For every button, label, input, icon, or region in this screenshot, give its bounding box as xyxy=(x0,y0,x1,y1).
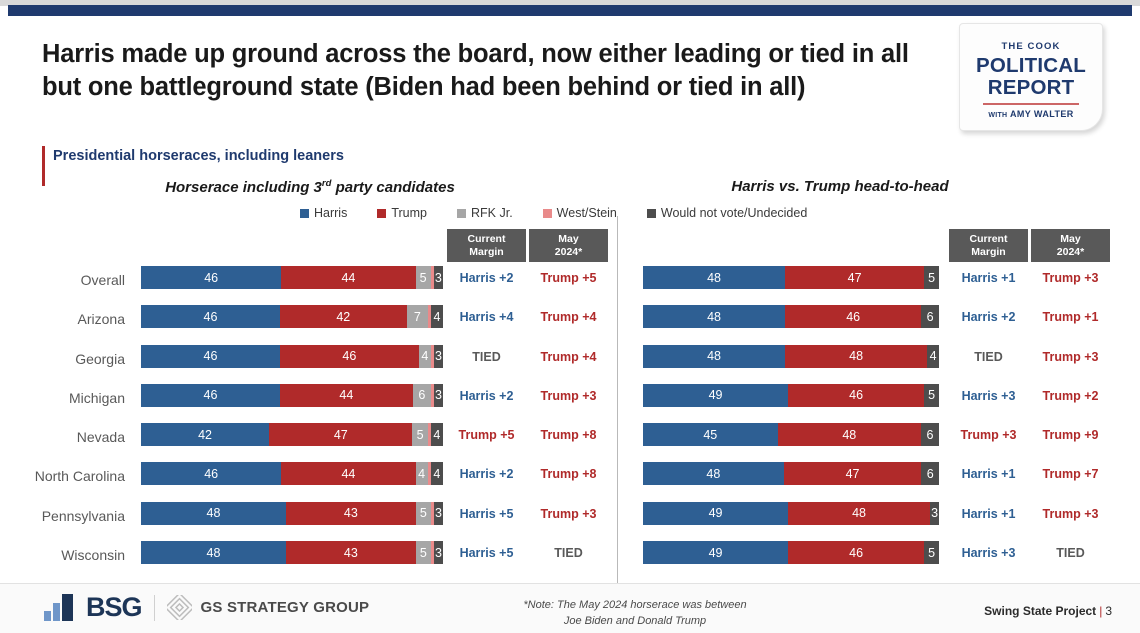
left-panel-title-main: Horserace including 3 xyxy=(165,179,322,196)
bar-segment-und: 3 xyxy=(930,502,939,525)
bar-segment-harris: 46 xyxy=(141,305,280,328)
legend-item-west-stein: West/Stein xyxy=(543,206,617,220)
legend-label: Harris xyxy=(314,206,347,220)
left-current-margin-value: Harris +2 xyxy=(447,271,526,285)
right-current-margin-value: Harris +1 xyxy=(949,507,1028,521)
right-current-margin-value: TIED xyxy=(949,350,1028,364)
right-stacked-bar: 45486 xyxy=(643,423,939,446)
left-current-margin-value: Trump +5 xyxy=(447,428,526,442)
left-panel-title-superscript: rd xyxy=(322,178,332,189)
right-stacked-bar: 48476 xyxy=(643,462,939,485)
state-label: North Carolina xyxy=(0,468,125,484)
left-stacked-bar: 464444 xyxy=(141,462,443,485)
bar-segment-harris: 42 xyxy=(141,423,269,446)
bar-segment-und: 5 xyxy=(924,541,939,564)
state-label: Michigan xyxy=(0,390,125,406)
bar-segment-und: 5 xyxy=(924,384,939,407)
left-current-margin-value: Harris +2 xyxy=(447,467,526,481)
right-stacked-bar: 49465 xyxy=(643,541,939,564)
bar-segment-rfk: 5 xyxy=(416,266,431,289)
table-row: Pennsylvania484353Harris +5Trump +349483… xyxy=(0,500,1140,539)
bar-segment-harris: 48 xyxy=(141,541,286,564)
right-stacked-bar: 48484 xyxy=(643,345,939,368)
bar-segment-trump: 42 xyxy=(280,305,407,328)
right-may-2024-value: Trump +1 xyxy=(1031,310,1110,324)
right-stacked-bar: 49483 xyxy=(643,502,939,525)
right-current-margin-value: Harris +1 xyxy=(949,271,1028,285)
logo-line-the-cook: THE COOK xyxy=(960,41,1102,52)
right-current-margin-value: Harris +3 xyxy=(949,546,1028,560)
legend-swatch-icon xyxy=(300,209,309,218)
bar-segment-und: 6 xyxy=(921,305,939,328)
left-may-2024-value: Trump +3 xyxy=(529,389,608,403)
right-current-margin-value: Trump +3 xyxy=(949,428,1028,442)
right-stacked-bar: 48475 xyxy=(643,266,939,289)
bar-segment-und: 3 xyxy=(434,266,443,289)
bar-segment-harris: 46 xyxy=(141,345,280,368)
bar-segment-harris: 48 xyxy=(643,345,785,368)
legend-label: Trump xyxy=(391,206,427,220)
bar-segment-trump: 47 xyxy=(784,462,922,485)
right-current-margin-value: Harris +1 xyxy=(949,467,1028,481)
bar-segment-harris: 49 xyxy=(643,502,788,525)
bar-segment-harris: 48 xyxy=(141,502,286,525)
footnote-line-2: Joe Biden and Donald Trump xyxy=(564,615,706,627)
left-may-2024-value: Trump +8 xyxy=(529,467,608,481)
table-row: Michigan464463Harris +2Trump +349465Harr… xyxy=(0,382,1140,421)
project-name: Swing State Project xyxy=(984,604,1096,618)
bar-segment-und: 4 xyxy=(431,305,443,328)
right-may-2024-value: Trump +3 xyxy=(1031,507,1110,521)
bar-segment-und: 4 xyxy=(927,345,939,368)
bar-segment-trump: 46 xyxy=(785,305,921,328)
right-may-2024-value: Trump +3 xyxy=(1031,271,1110,285)
chart-rows: Overall464453Harris +2Trump +548475Harri… xyxy=(0,264,1140,578)
bsg-logo: BSG GS STRATEGY GROUP xyxy=(44,592,369,623)
bar-segment-trump: 44 xyxy=(280,384,413,407)
bsg-bars-icon xyxy=(44,594,74,621)
bar-segment-trump: 48 xyxy=(785,345,927,368)
state-label: Overall xyxy=(0,272,125,288)
bar-segment-und: 3 xyxy=(434,502,443,525)
page-title: Harris made up ground across the board, … xyxy=(42,38,932,103)
state-label: Georgia xyxy=(0,351,125,367)
table-row: Wisconsin484353Harris +5TIED49465Harris … xyxy=(0,539,1140,578)
bar-segment-trump: 44 xyxy=(281,266,415,289)
bar-segment-harris: 45 xyxy=(643,423,778,446)
right-may-2024-value: Trump +9 xyxy=(1031,428,1110,442)
bar-segment-harris: 49 xyxy=(643,541,788,564)
legend-label: West/Stein xyxy=(557,206,617,220)
right-may-2024-value: Trump +3 xyxy=(1031,350,1110,364)
right-current-margin-header: CurrentMargin xyxy=(949,229,1028,262)
bar-segment-trump: 46 xyxy=(280,345,419,368)
logo-line-report: REPORT xyxy=(960,77,1102,99)
bar-segment-und: 6 xyxy=(921,462,939,485)
left-may-2024-value: Trump +3 xyxy=(529,507,608,521)
bar-segment-rfk: 5 xyxy=(416,502,431,525)
bar-segment-und: 6 xyxy=(921,423,939,446)
table-row: Overall464453Harris +2Trump +548475Harri… xyxy=(0,264,1140,303)
right-column-headers: CurrentMargin May2024* xyxy=(949,229,1110,262)
section-accent-rule xyxy=(42,146,45,186)
legend-label: RFK Jr. xyxy=(471,206,513,220)
bar-segment-rfk: 5 xyxy=(412,423,427,446)
left-column-headers: CurrentMargin May2024* xyxy=(447,229,608,262)
left-current-margin-header: CurrentMargin xyxy=(447,229,526,262)
left-stacked-bar: 484353 xyxy=(141,502,443,525)
bar-segment-und: 4 xyxy=(431,423,443,446)
left-stacked-bar: 464453 xyxy=(141,266,443,289)
bar-segment-und: 3 xyxy=(434,384,443,407)
left-stacked-bar: 464274 xyxy=(141,305,443,328)
bar-segment-rfk: 5 xyxy=(416,541,431,564)
chart-legend: HarrisTrumpRFK Jr.West/SteinWould not vo… xyxy=(300,206,807,220)
left-may-2024-value: TIED xyxy=(529,546,608,560)
bar-segment-harris: 46 xyxy=(141,462,281,485)
legend-item-harris: Harris xyxy=(300,206,347,220)
table-row: North Carolina464444Harris +2Trump +8484… xyxy=(0,460,1140,499)
bar-segment-rfk: 6 xyxy=(413,384,431,407)
left-may-2024-value: Trump +4 xyxy=(529,310,608,324)
page-number: 3 xyxy=(1105,604,1112,618)
bar-segment-trump: 44 xyxy=(281,462,415,485)
right-panel-title: Harris vs. Trump head-to-head xyxy=(640,178,1040,195)
legend-swatch-icon xyxy=(377,209,386,218)
left-stacked-bar: 424754 xyxy=(141,423,443,446)
right-may-2024-value: TIED xyxy=(1031,546,1110,560)
bar-segment-und: 5 xyxy=(924,266,939,289)
logo-byline-with: WITH xyxy=(988,112,1007,119)
bar-segment-trump: 48 xyxy=(788,502,930,525)
left-may-2024-value: Trump +8 xyxy=(529,428,608,442)
left-stacked-bar: 464643 xyxy=(141,345,443,368)
logo-byline-author: AMY WALTER xyxy=(1010,109,1074,119)
right-current-margin-value: Harris +2 xyxy=(949,310,1028,324)
state-label: Nevada xyxy=(0,429,125,445)
legend-swatch-icon xyxy=(457,209,466,218)
left-may-2024-header: May2024* xyxy=(529,229,608,262)
legend-swatch-icon xyxy=(543,209,552,218)
left-current-margin-value: Harris +5 xyxy=(447,507,526,521)
right-stacked-bar: 48466 xyxy=(643,305,939,328)
legend-item-trump: Trump xyxy=(377,206,427,220)
left-panel-title-rest: party candidates xyxy=(331,179,454,196)
table-row: Arizona464274Harris +4Trump +448466Harri… xyxy=(0,303,1140,342)
bar-segment-trump: 46 xyxy=(788,384,924,407)
right-stacked-bar: 49465 xyxy=(643,384,939,407)
section-label: Presidential horseraces, including leane… xyxy=(53,148,344,164)
gs-strategy-group-logo: GS STRATEGY GROUP xyxy=(167,595,370,620)
logo-divider xyxy=(983,103,1079,105)
right-may-2024-value: Trump +2 xyxy=(1031,389,1110,403)
bar-segment-harris: 46 xyxy=(141,384,280,407)
page-separator: | xyxy=(1099,604,1102,618)
page-footer: Swing State Project|3 xyxy=(984,604,1112,618)
right-may-2024-value: Trump +7 xyxy=(1031,467,1110,481)
bar-segment-und: 3 xyxy=(434,541,443,564)
logo-line-political: POLITICAL xyxy=(960,55,1102,77)
legend-swatch-icon xyxy=(647,209,656,218)
left-may-2024-value: Trump +5 xyxy=(529,271,608,285)
logo-byline: WITH AMY WALTER xyxy=(960,109,1102,119)
gs-diamond-icon xyxy=(167,595,192,620)
footnote: *Note: The May 2024 horserace was betwee… xyxy=(420,598,850,630)
bsg-wordmark: BSG xyxy=(86,592,142,623)
left-panel-title: Horserace including 3rd party candidates xyxy=(130,178,490,196)
bar-segment-trump: 46 xyxy=(788,541,924,564)
right-current-margin-value: Harris +3 xyxy=(949,389,1028,403)
left-current-margin-value: TIED xyxy=(447,350,526,364)
table-row: Nevada424754Trump +5Trump +845486Trump +… xyxy=(0,421,1140,460)
bar-segment-harris: 48 xyxy=(643,266,785,289)
bar-segment-trump: 47 xyxy=(785,266,924,289)
bar-segment-harris: 48 xyxy=(643,462,784,485)
left-stacked-bar: 484353 xyxy=(141,541,443,564)
bar-segment-trump: 47 xyxy=(269,423,412,446)
legend-item-would-not-vote-undecided: Would not vote/Undecided xyxy=(647,206,807,220)
top-accent-bar xyxy=(8,5,1132,16)
left-stacked-bar: 464463 xyxy=(141,384,443,407)
bar-segment-trump: 48 xyxy=(778,423,922,446)
bar-segment-und: 4 xyxy=(431,462,443,485)
bar-segment-trump: 43 xyxy=(286,541,416,564)
slide: Harris made up ground across the board, … xyxy=(0,0,1140,633)
right-may-2024-header: May2024* xyxy=(1031,229,1110,262)
bar-segment-und: 3 xyxy=(434,345,443,368)
state-label: Arizona xyxy=(0,311,125,327)
legend-item-rfk-jr: RFK Jr. xyxy=(457,206,513,220)
footer-logo-divider xyxy=(154,595,155,621)
bar-segment-rfk: 4 xyxy=(416,462,428,485)
gs-wordmark: GS STRATEGY GROUP xyxy=(201,599,370,616)
left-current-margin-value: Harris +5 xyxy=(447,546,526,560)
bar-segment-rfk: 4 xyxy=(419,345,431,368)
footnote-line-1: *Note: The May 2024 horserace was betwee… xyxy=(523,599,746,611)
bar-segment-harris: 46 xyxy=(141,266,281,289)
bar-segment-rfk: 7 xyxy=(407,305,428,328)
state-label: Pennsylvania xyxy=(0,508,125,524)
bar-segment-trump: 43 xyxy=(286,502,416,525)
bar-segment-harris: 48 xyxy=(643,305,785,328)
left-current-margin-value: Harris +2 xyxy=(447,389,526,403)
bar-segment-harris: 49 xyxy=(643,384,788,407)
left-current-margin-value: Harris +4 xyxy=(447,310,526,324)
table-row: Georgia464643TIEDTrump +448484TIEDTrump … xyxy=(0,343,1140,382)
cook-political-report-logo: THE COOK POLITICAL REPORT WITH AMY WALTE… xyxy=(959,23,1103,131)
left-may-2024-value: Trump +4 xyxy=(529,350,608,364)
state-label: Wisconsin xyxy=(0,547,125,563)
legend-label: Would not vote/Undecided xyxy=(661,206,807,220)
